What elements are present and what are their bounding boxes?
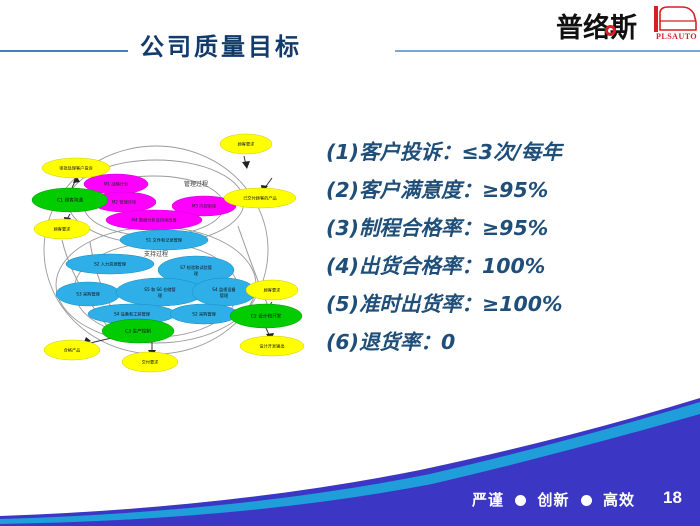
node-ext-req-right-label: 顾客要求 [264,287,282,294]
header-rule-right [395,50,700,52]
goal-item-5: (5)准时出货率：≥100% [326,285,686,323]
support-nodes: S1 文件和记录管理 S2 人力资源管理 S7 检验和试验管 理 S3 采购管理… [56,230,256,324]
node-s2-purchase-label: S2 采购管理 [192,311,216,318]
truck-outline-icon [652,4,698,34]
footer-slogan: 严谨 创新 高效 [472,489,635,510]
quality-goals-list: (1)客户投诉：≤3次/每年 (2)客户满意度：≥95% (3)制程合格率：≥9… [326,133,686,361]
bullet-dot-icon-2 [581,495,592,506]
goal-item-2: (2)客户满意度：≥95% [326,171,686,209]
node-m2-label: M2 管理评审 [112,199,136,206]
node-ext-delivery-req-label: 交付要求 [142,359,160,366]
node-ext-product-label: 合格产品 [64,347,81,354]
node-s3-label: S3 采购管理 [76,291,100,298]
node-s4-equipment-label: S4 设备和工装管理 [114,311,151,318]
node-m4-label: M4 数据分析及持续改善 [131,217,176,224]
node-c1-label: C1 顾客沟通 [57,197,83,204]
node-c2-label: C2 设计和开发 [251,313,282,320]
node-c3-label: C3 生产控制 [125,328,151,335]
footer-slogan-part-3: 高效 [603,491,635,509]
bullet-dot-icon-1 [515,495,526,506]
node-m3-label: M3 内部审核 [192,203,217,210]
node-s5-s6[interactable] [116,278,204,306]
group-label-management: 管理过程 [184,180,208,188]
node-ext-design-output-label: 设计开发输出 [259,343,284,350]
footer-slogan-part-2: 创新 [537,491,569,509]
goal-item-6: (6)退货率：0 [326,323,686,361]
slide-canvas: 公司质量目标 普络斯 PLSAUTO (1)客户投诉：≤3次/每年 (2)客户满… [0,0,700,526]
node-ext-complaint-label: 审批处理客户投诉 [59,165,93,172]
header-rule-left [0,50,128,52]
node-s5-s6-label: S5 和 S6 仓储管 [144,286,175,293]
node-ext-req-left-label: 顾客要求 [54,226,72,233]
goal-item-3: (3)制程合格率：≥95% [326,209,686,247]
footer-slogan-part-1: 严谨 [472,491,504,509]
node-s7-label: S7 检验和试验管 [180,264,212,271]
node-m1-label: M1 战略计划 [104,181,128,188]
group-label-support: 支持过程 [144,250,168,258]
goal-item-1: (1)客户投诉：≤3次/每年 [326,133,686,171]
node-s2-label: S2 人力资源管理 [94,261,127,268]
page-title: 公司质量目标 [140,27,302,62]
node-s4-monitor-label2: 管理 [220,292,229,299]
red-ring-icon [605,25,616,36]
goal-item-4: (4)出货合格率：100% [326,247,686,285]
node-ext-req-top-label: 顾客要求 [238,141,256,148]
logo-english-text: PLSAUTO [656,32,697,41]
logo-chinese-text: 普络斯 [556,6,637,45]
node-ext-delivered-label: 已交付顾客的产品 [243,195,277,202]
node-s1-label: S1 文件和记录管理 [146,237,183,244]
process-map-diagram: 管理过程 支持过程 M1 战略计划 M2 管理评审 M3 内部审核 M4 数据分… [28,122,310,374]
company-logo: 普络斯 PLSAUTO [556,2,696,46]
node-s4-monitor-label: S4 监视设备 [212,286,236,293]
page-number: 18 [663,488,682,508]
